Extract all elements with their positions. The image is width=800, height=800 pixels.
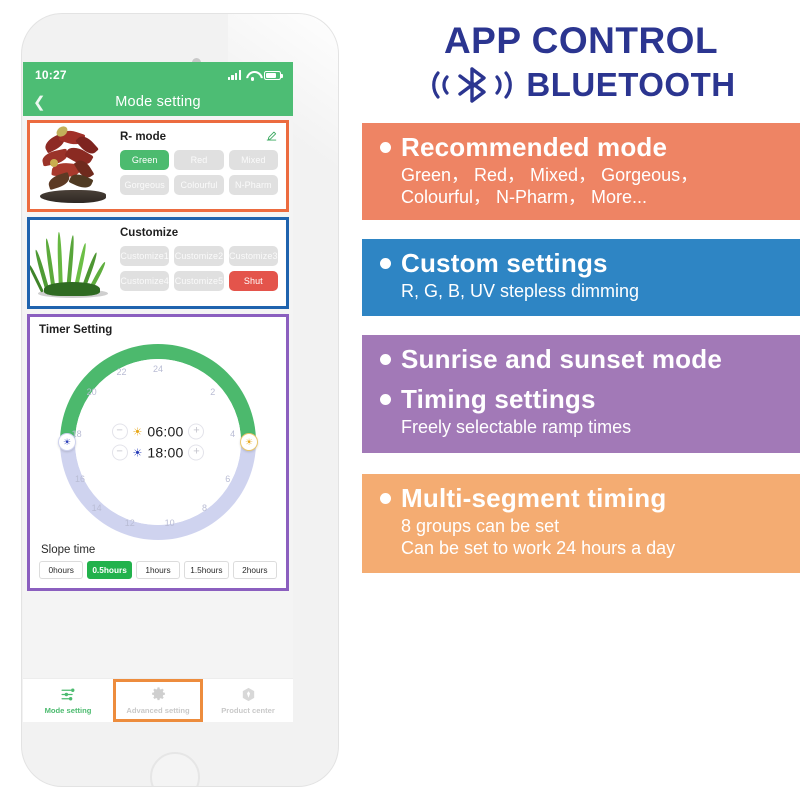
sunrise-time: 06:00 (147, 424, 183, 440)
sunset-plus-button[interactable]: + (188, 445, 204, 461)
slope-option-15hours[interactable]: 1.5hours (184, 561, 228, 579)
nav-bar: ❮ Mode setting (23, 88, 293, 116)
timer-dial[interactable]: 24 2 4 6 8 10 12 14 16 18 20 22 ☀ ☀ (60, 344, 256, 540)
slope-time-options: 0hours 0.5hours 1hours 1.5hours 2hours (39, 561, 277, 579)
chip-colourful[interactable]: Colourful (174, 175, 223, 195)
signal-bars-icon (228, 70, 241, 80)
rmode-chip-grid: Green Red Mixed Gorgeous Colourful N-Pha… (120, 150, 278, 195)
app-screen: 10:27 ❮ Mode setting (23, 62, 293, 722)
slope-time-title: Slope time (41, 544, 277, 556)
panel-recommended-sub2: Colourful， N-Pharm， More... (401, 186, 800, 209)
rmode-header: R- mode (120, 130, 278, 143)
dial-num-12: 12 (125, 518, 135, 528)
panel-multi-segment: Multi-segment timing 8 groups can be set… (362, 474, 800, 573)
gear-icon (150, 686, 167, 703)
chip-n-pharm[interactable]: N-Pharm (229, 175, 278, 195)
chip-gorgeous[interactable]: Gorgeous (120, 175, 169, 195)
card-timer-setting: Timer Setting 24 2 4 6 8 10 12 14 16 18 … (27, 314, 289, 591)
sunrise-minus-button[interactable]: − (112, 424, 128, 440)
panel-recommended-mode: Recommended mode Green， Red， Mixed， Gorg… (362, 123, 800, 220)
headline-block: APP CONTROL BLUETOOTH (362, 0, 800, 105)
panel-recommended-head: Recommended mode (380, 132, 800, 163)
card-recommended-mode: R- mode Green Red Mixed Gorgeous Colourf… (27, 120, 289, 212)
tab-label-product-center: Product center (221, 706, 275, 715)
sunset-row: − ☀ 18:00 + (83, 445, 233, 461)
panel-recommended-title: Recommended mode (401, 132, 667, 163)
customize-header: Customize (120, 227, 278, 239)
customize-chip-grid: Customize1 Customize2 Customize3 Customi… (120, 246, 278, 291)
chip-customize3[interactable]: Customize3 (229, 246, 278, 266)
panel-custom-settings: Custom settings R, G, B, UV stepless dim… (362, 239, 800, 317)
panel-multi-sub1: 8 groups can be set (401, 515, 800, 538)
chip-customize2[interactable]: Customize2 (174, 246, 223, 266)
tab-label-mode-setting: Mode setting (45, 706, 92, 715)
tab-product-center[interactable]: Product center (203, 679, 293, 722)
bullet-icon (380, 142, 391, 153)
status-bar: 10:27 (23, 62, 293, 88)
customize-content: Customize Customize1 Customize2 Customiz… (116, 220, 286, 306)
panel-timing-sub1: Freely selectable ramp times (401, 416, 800, 439)
rmode-title: R- mode (120, 131, 166, 143)
dial-num-16: 16 (75, 474, 85, 484)
battery-icon (264, 71, 281, 80)
dial-num-8: 8 (202, 503, 207, 513)
dial-num-6: 6 (225, 474, 230, 484)
customize-title: Customize (120, 227, 178, 239)
panel-sunrise-title: Sunrise and sunset mode (401, 344, 722, 375)
hexagon-icon (240, 686, 257, 703)
dial-num-2: 2 (210, 387, 215, 397)
panel-sunrise-head: Sunrise and sunset mode (380, 344, 800, 375)
card-customize: Customize Customize1 Customize2 Customiz… (27, 217, 289, 309)
panel-multi-sub2: Can be set to work 24 hours a day (401, 537, 800, 560)
sunset-time: 18:00 (147, 445, 183, 461)
headline-bluetooth-row: BLUETOOTH (362, 65, 800, 105)
dial-num-22: 22 (116, 367, 126, 377)
slope-option-0hours[interactable]: 0hours (39, 561, 83, 579)
dial-center-readout: − ☀ 06:00 + − ☀ 18:00 + (83, 419, 233, 466)
rmode-content: R- mode Green Red Mixed Gorgeous Colourf… (116, 123, 286, 209)
panel-custom-head: Custom settings (380, 248, 800, 279)
plant-rock (40, 190, 106, 203)
dial-num-24: 24 (153, 364, 163, 374)
tab-mode-setting[interactable]: Mode setting (23, 679, 113, 722)
red-plant-photo (30, 123, 116, 209)
bottom-tab-bar: Mode setting Advanced setting Product ce… (23, 678, 293, 722)
dial-num-20: 20 (87, 387, 97, 397)
green-plant-photo (30, 220, 116, 306)
sunset-icon: ☀ (133, 446, 143, 459)
status-time: 10:27 (35, 68, 67, 82)
back-chevron-icon[interactable]: ❮ (33, 95, 46, 110)
bluetooth-signal-icon (426, 65, 518, 105)
headline-app-control: APP CONTROL (362, 22, 800, 61)
wifi-icon (246, 70, 259, 80)
sunset-minus-button[interactable]: − (112, 445, 128, 461)
dial-num-10: 10 (165, 518, 175, 528)
screen-body: R- mode Green Red Mixed Gorgeous Colourf… (23, 116, 293, 591)
slope-option-1hours[interactable]: 1hours (136, 561, 180, 579)
green-plant-artwork (30, 220, 116, 306)
tab-label-advanced-setting: Advanced setting (126, 706, 189, 715)
panel-recommended-sub1: Green， Red， Mixed， Gorgeous， (401, 164, 800, 187)
status-icons (228, 70, 281, 80)
page-title: Mode setting (23, 94, 293, 110)
chip-customize5[interactable]: Customize5 (174, 271, 223, 291)
panel-timing-head: Timing settings (380, 384, 800, 415)
timer-title: Timer Setting (39, 324, 277, 336)
sunrise-plus-button[interactable]: + (188, 424, 204, 440)
panel-sunrise-timing: Sunrise and sunset mode Timing settings … (362, 335, 800, 453)
bullet-icon (380, 354, 391, 365)
red-plant-artwork (30, 123, 116, 209)
chip-customize1[interactable]: Customize1 (120, 246, 169, 266)
panel-multi-title: Multi-segment timing (401, 483, 666, 514)
chip-shut[interactable]: Shut (229, 271, 278, 291)
panel-custom-title: Custom settings (401, 248, 608, 279)
phone-home-button[interactable] (150, 752, 200, 786)
chip-green[interactable]: Green (120, 150, 169, 170)
panel-multi-head: Multi-segment timing (380, 483, 800, 514)
pencil-icon[interactable] (265, 130, 278, 143)
bullet-icon (380, 394, 391, 405)
sunrise-icon: ☀ (133, 425, 143, 438)
panel-custom-sub1: R, G, B, UV stepless dimming (401, 280, 800, 303)
panel-timing-title: Timing settings (401, 384, 596, 415)
slope-option-05hours[interactable]: 0.5hours (87, 561, 131, 579)
slope-option-2hours[interactable]: 2hours (233, 561, 277, 579)
tab-advanced-setting[interactable]: Advanced setting (113, 679, 203, 722)
sliders-icon (60, 686, 77, 703)
bullet-icon (380, 258, 391, 269)
headline-bluetooth: BLUETOOTH (526, 66, 735, 104)
bullet-icon (380, 493, 391, 504)
sunrise-handle-icon[interactable]: ☀ (240, 433, 258, 451)
sunrise-row: − ☀ 06:00 + (83, 424, 233, 440)
chip-mixed[interactable]: Mixed (229, 150, 278, 170)
chip-red[interactable]: Red (174, 150, 223, 170)
dial-num-14: 14 (92, 503, 102, 513)
marketing-column: APP CONTROL BLUETOOTH Recommended mode (362, 0, 800, 800)
sunset-handle-icon[interactable]: ☀ (58, 433, 76, 451)
chip-customize4[interactable]: Customize4 (120, 271, 169, 291)
